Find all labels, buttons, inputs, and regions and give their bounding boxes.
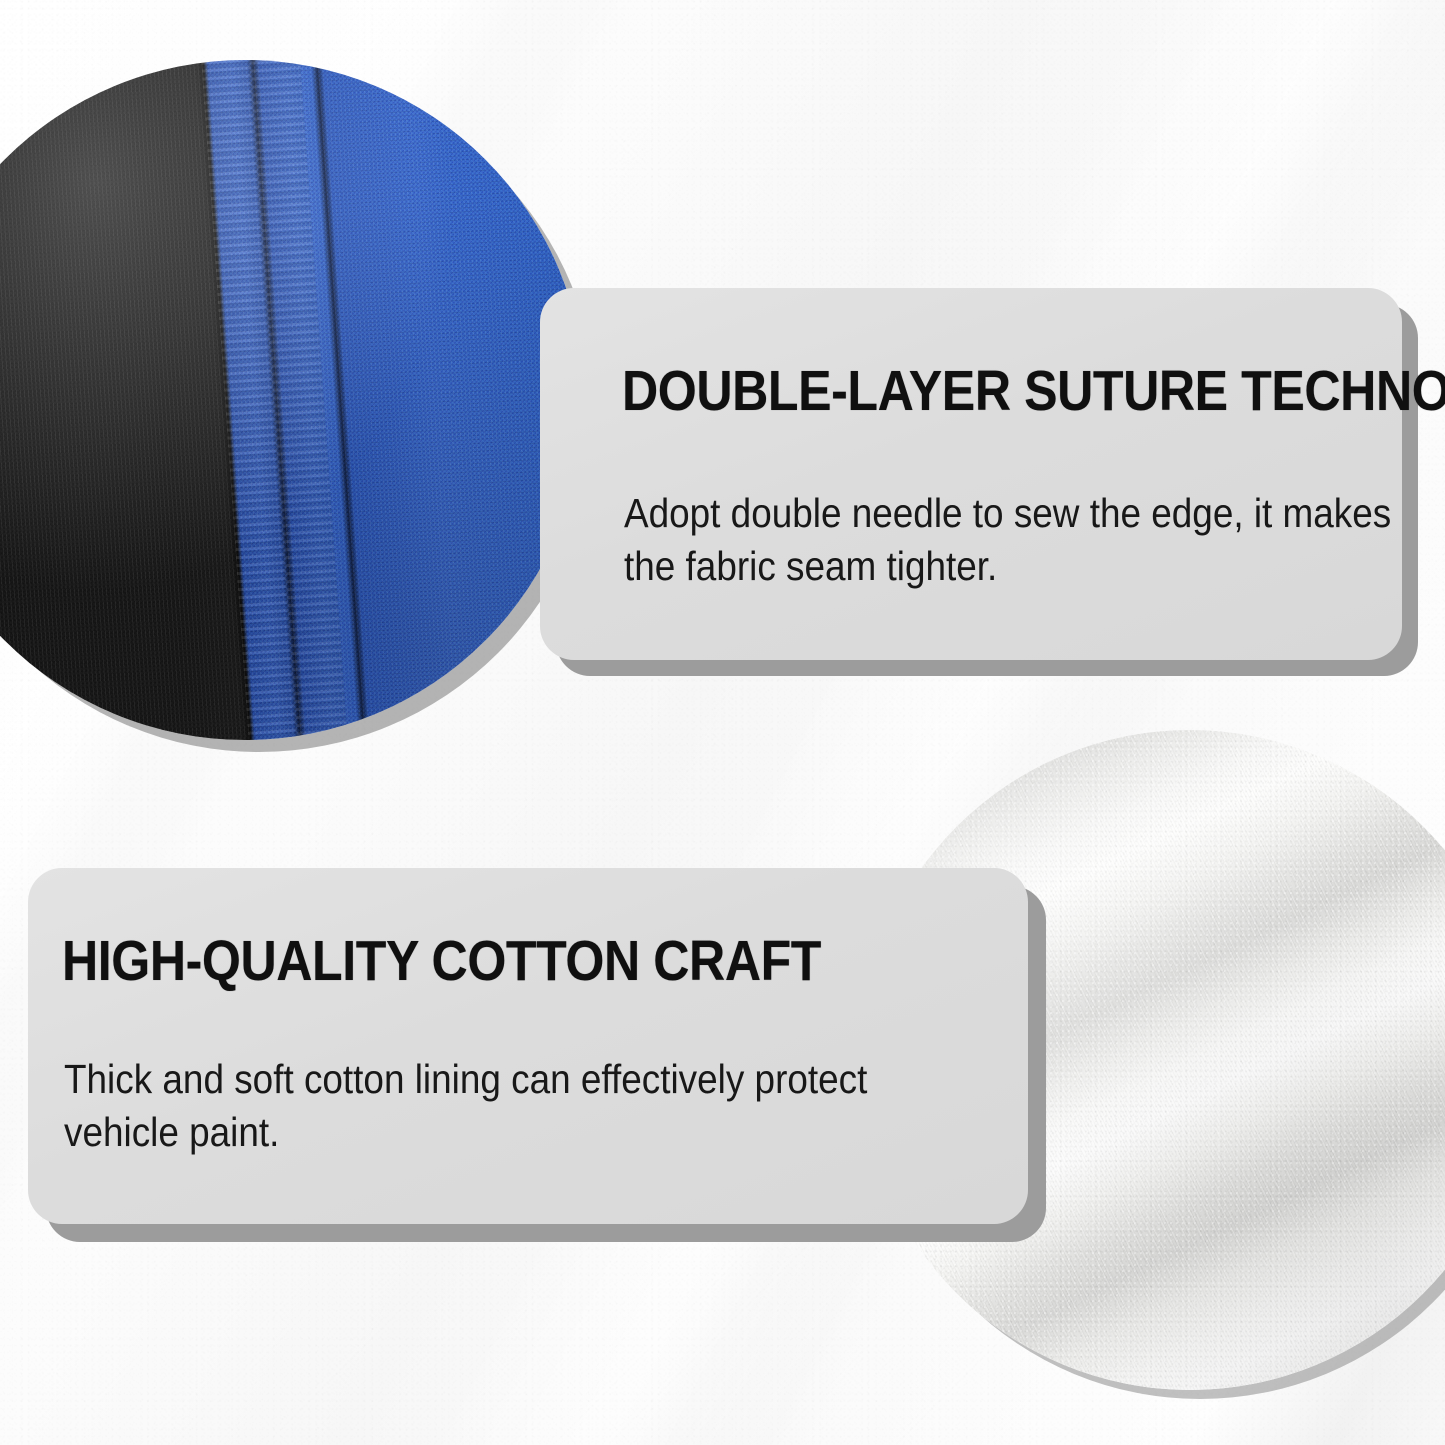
feature-title-cotton: HIGH-QUALITY COTTON CRAFT <box>62 928 821 994</box>
feature-body-suture: Adopt double needle to sew the edge, it … <box>624 487 1398 594</box>
seam-photo-lighting <box>0 60 585 740</box>
infographic-stage: DOUBLE-LAYER SUTURE TECHNOLOGY Adopt dou… <box>0 0 1445 1445</box>
feature-body-cotton: Thick and soft cotton lining can effecti… <box>64 1053 874 1160</box>
feature-card-suture <box>540 288 1402 660</box>
stitched-seam-photo <box>0 60 585 740</box>
feature-title-suture: DOUBLE-LAYER SUTURE TECHNOLOGY <box>622 358 1445 424</box>
feature-card-cotton <box>28 868 1028 1224</box>
